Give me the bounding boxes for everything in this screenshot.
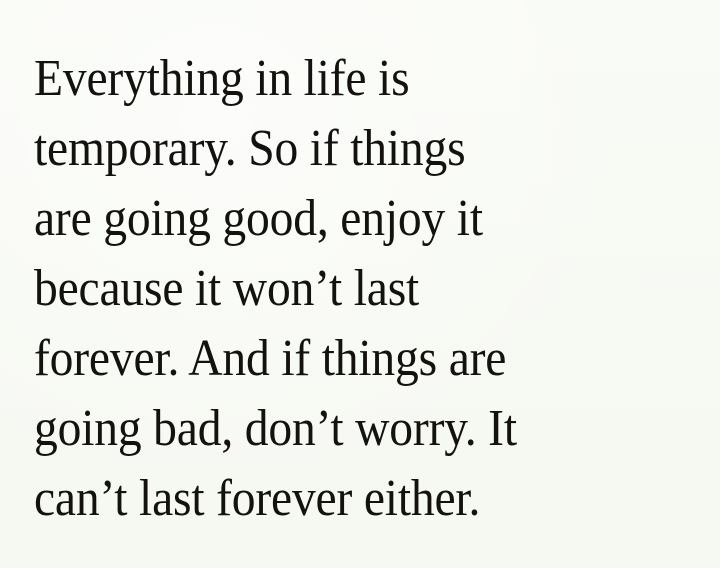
quote-line-6: going bad, don’t worry. It (34, 394, 649, 464)
quote-text-block: Everything in life is temporary. So if t… (34, 44, 706, 554)
quote-line-7: can’t last forever either. (34, 464, 649, 534)
quote-image: Everything in life is temporary. So if t… (0, 0, 720, 568)
quote-line-5: forever. And if things are (34, 324, 649, 394)
quote-line-3: are going good, enjoy it (34, 184, 649, 254)
quote-line-4: because it won’t last (34, 254, 649, 324)
quote-line-2: temporary. So if things (34, 114, 649, 184)
quote-line-1: Everything in life is (34, 44, 649, 114)
